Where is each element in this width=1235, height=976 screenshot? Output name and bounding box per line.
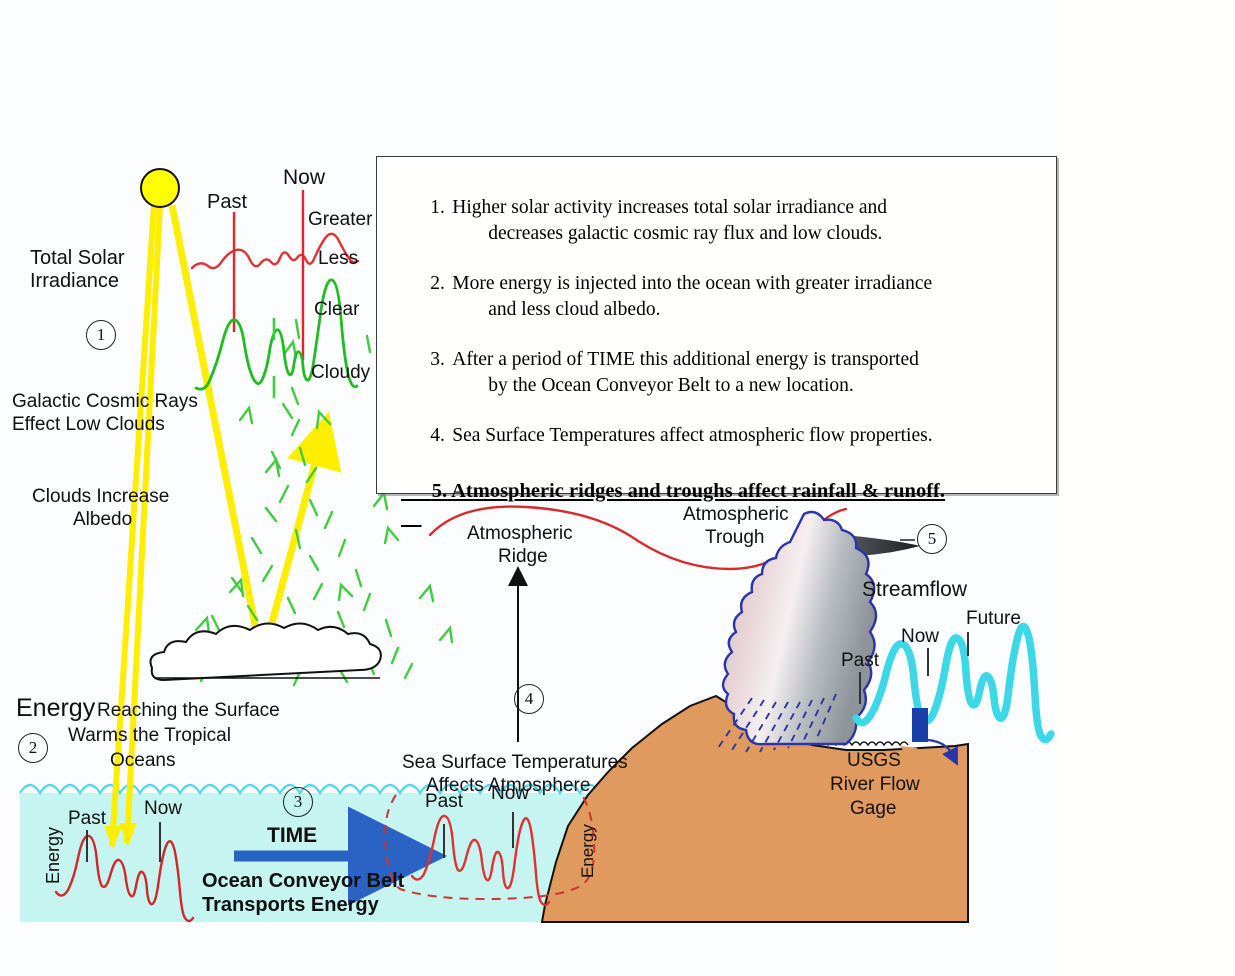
greater-label: Greater: [308, 209, 372, 231]
tsi-label-line2: Irradiance: [30, 270, 119, 294]
energy-surface-line2: Warms the Tropical: [68, 725, 231, 747]
streamflow-now-label: Now: [901, 626, 939, 648]
diagram-canvas: 1.Higher solar activity increases total …: [0, 0, 1235, 976]
note-1-line2: decreases galactic cosmic ray flux and l…: [488, 223, 882, 244]
sst-now-label: Now: [491, 783, 529, 805]
step-3-label: 3: [294, 792, 303, 812]
note-4-number: 4.: [430, 424, 452, 449]
cosmic-rays-label-line1: Galactic Cosmic Rays: [12, 391, 198, 413]
ocean-energy-axis-label: Energy: [43, 827, 64, 884]
step-marker-2: 2: [18, 733, 48, 763]
note-2-number: 2.: [430, 272, 452, 297]
step-2-label: 2: [29, 738, 38, 758]
ridge-label-line1: Atmospheric: [467, 523, 573, 545]
energy-surface-line3: Oceans: [110, 750, 175, 772]
energy-surface-rest: Reaching the Surface: [97, 700, 280, 722]
cosmic-rays-label-line2: Effect Low Clouds: [12, 414, 165, 436]
time-label: TIME: [267, 824, 317, 849]
step-1-label: 1: [97, 325, 106, 345]
gage-label-line3: Gage: [850, 798, 896, 820]
step-4-label: 4: [525, 689, 534, 709]
note-4-line1: Sea Surface Temperatures affect atmosphe…: [452, 425, 932, 446]
note-2-line2: and less cloud albedo.: [488, 299, 660, 320]
trough-label-line1: Atmospheric: [683, 504, 789, 526]
page-margin-right: [1058, 0, 1235, 976]
ocean-now-label: Now: [144, 798, 182, 820]
note-3-line2: by the Ocean Conveyor Belt to a new loca…: [488, 375, 854, 396]
step-marker-3: 3: [283, 787, 313, 817]
step-marker-5: 5: [917, 524, 947, 554]
step-marker-4: 4: [514, 684, 544, 714]
tsi-now-label: Now: [283, 166, 325, 191]
albedo-label-line2: Albedo: [73, 509, 132, 531]
note-item-5: 5. Atmospheric ridges and troughs affect…: [401, 453, 945, 530]
less-label: Less: [318, 248, 358, 270]
energy-surface-big: Energy: [16, 694, 95, 724]
sst-energy-axis-label: Energy: [578, 824, 598, 878]
streamflow-future-label: Future: [966, 608, 1021, 630]
cloudy-label: Cloudy: [311, 362, 370, 384]
streamflow-label: Streamflow: [862, 578, 967, 603]
key-points-panel: 1.Higher solar activity increases total …: [376, 156, 1057, 494]
conveyor-label-line2: Transports Energy: [202, 894, 379, 918]
sun-icon: [141, 169, 179, 207]
gage-label-line2: River Flow: [830, 774, 920, 796]
tsi-past-label: Past: [207, 191, 247, 215]
gage-label-line1: USGS: [847, 750, 901, 772]
step-5-label: 5: [928, 529, 937, 549]
note-3-number: 3.: [430, 348, 452, 373]
note-5-number: 5.: [432, 480, 447, 502]
conveyor-label-line1: Ocean Conveyor Belt: [202, 870, 404, 894]
sst-past-label: Past: [425, 791, 463, 813]
sst-label-line1: Sea Surface Temperatures: [402, 752, 628, 774]
clear-label: Clear: [314, 299, 359, 321]
albedo-label-line1: Clouds Increase: [32, 486, 169, 508]
note-5-line1: Atmospheric ridges and troughs affect ra…: [451, 480, 945, 502]
ocean-past-label: Past: [68, 808, 106, 830]
streamflow-past-label: Past: [841, 650, 879, 672]
tsi-label-line1: Total Solar: [30, 247, 125, 271]
step-marker-1: 1: [86, 320, 116, 350]
trough-label-line2: Trough: [705, 527, 765, 549]
ridge-label-line2: Ridge: [498, 546, 548, 568]
note-1-number: 1.: [430, 196, 452, 221]
